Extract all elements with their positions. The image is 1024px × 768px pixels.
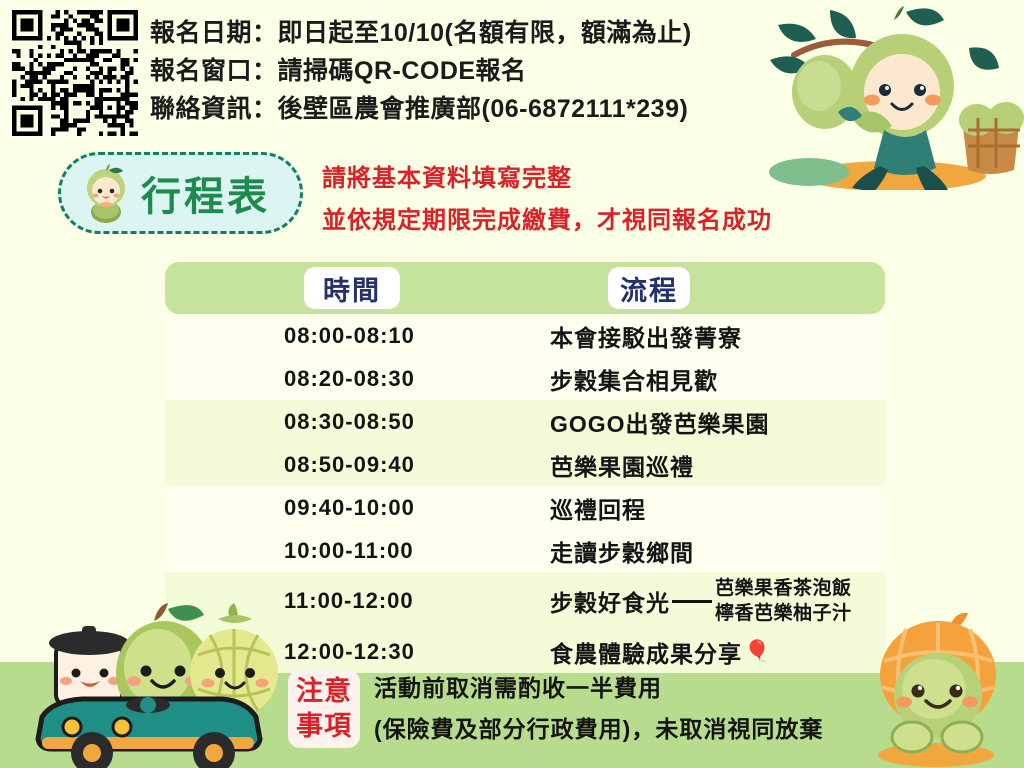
row-time: 08:50-09:40 [284, 452, 415, 478]
row-activity-label: 走讀步穀鄉間 [550, 534, 694, 568]
row-time: 08:20-08:30 [284, 366, 415, 392]
row-activity: 走讀步穀鄉間 [550, 534, 694, 568]
row-activity: 步穀集合相見歡 [550, 362, 718, 396]
row-activity: 芭樂果園巡禮 [550, 448, 694, 482]
notice-badge-line-2: 事項 [296, 709, 352, 744]
row-time: 08:30-08:50 [284, 409, 415, 435]
table-row: 08:20-08:30步穀集合相見歡 [165, 357, 885, 400]
table-row: 08:50-09:40芭樂果園巡禮 [165, 443, 885, 486]
row-activity: GOGO出發芭樂果園 [550, 405, 770, 439]
notice-line-2: (保險費及部分行政費用)，未取消視同放棄 [374, 709, 823, 750]
column-header-time: 時間 [304, 267, 400, 309]
balloon-icon: 🎈 [744, 640, 771, 664]
notice-block: 注意 事項 活動前取消需酌收一半費用 (保險費及部分行政費用)，未取消視同放棄 [288, 668, 823, 750]
notice-badge-line-1: 注意 [296, 674, 352, 709]
table-row: 08:00-08:10本會接駁出發菁寮 [165, 314, 885, 357]
row-activity: 步穀好食光芭樂果香茶泡飯檸香芭樂柚子汁 [550, 576, 852, 626]
table-row: 08:30-08:50GOGO出發芭樂果園 [165, 400, 885, 443]
row-time: 11:00-12:00 [284, 588, 414, 614]
guava-mascot-icon [77, 162, 135, 224]
row-time: 08:00-08:10 [284, 323, 415, 349]
row-activity: 巡禮回程 [550, 491, 646, 525]
row-activity-label: 芭樂果園巡禮 [550, 448, 694, 482]
qr-code-block[interactable] [12, 10, 138, 136]
row-sub-items: 芭樂果香茶泡飯檸香芭樂柚子汁 [715, 576, 852, 626]
schedule-badge: 行程表 [58, 152, 303, 234]
row-sub-item: 芭樂果香茶泡飯 [715, 576, 852, 601]
notice-line-1: 活動前取消需酌收一半費用 [374, 668, 823, 709]
row-activity-label: GOGO出發芭樂果園 [550, 405, 770, 439]
row-time: 10:00-11:00 [284, 538, 414, 564]
notice-text: 活動前取消需酌收一半費用 (保險費及部分行政費用)，未取消視同放棄 [374, 668, 823, 750]
registration-info: 報名日期：即日起至10/10(名額有限，額滿為止) 報名窗口：請掃碼QR-COD… [150, 14, 770, 128]
column-header-flow: 流程 [608, 267, 690, 309]
table-row: 10:00-11:00走讀步穀鄉間 [165, 529, 885, 572]
row-activity-label: 食農體驗成果分享 [550, 635, 742, 669]
mascots-in-car-illustration [18, 593, 283, 768]
row-activity-label: 步穀集合相見歡 [550, 362, 718, 396]
registration-date-line: 報名日期：即日起至10/10(名額有限，額滿為止) [150, 14, 770, 52]
row-sub-item: 檸香芭樂柚子汁 [715, 601, 852, 626]
row-time: 12:00-12:30 [284, 639, 415, 665]
poster-root: 報名日期：即日起至10/10(名額有限，額滿為止) 報名窗口：請掃碼QR-COD… [0, 0, 1024, 768]
contact-info-line: 聯絡資訊：後壁區農會推廣部(06-6872111*239) [150, 90, 770, 128]
guava-picking-mascot-illustration [734, 0, 1024, 190]
row-time: 09:40-10:00 [284, 495, 415, 521]
melon-hood-mascot-illustration [856, 603, 1016, 768]
row-activity: 食農體驗成果分享🎈 [550, 635, 771, 669]
row-activity: 本會接駁出發菁寮 [550, 319, 742, 353]
notice-badge: 注意 事項 [288, 670, 360, 748]
table-header-bar: 時間 流程 [165, 262, 885, 314]
row-activity-label: 步穀好食光 [550, 584, 670, 618]
connector-dash-icon [672, 600, 712, 603]
red-reminder-line-2: 並依規定期限完成繳費，才視同報名成功 [322, 200, 882, 242]
registration-window-line: 報名窗口：請掃碼QR-CODE報名 [150, 52, 770, 90]
table-row: 09:40-10:00巡禮回程 [165, 486, 885, 529]
row-activity-label: 本會接駁出發菁寮 [550, 319, 742, 353]
row-activity-label: 巡禮回程 [550, 491, 646, 525]
qr-code-icon[interactable] [12, 10, 138, 136]
schedule-badge-label: 行程表 [141, 164, 270, 222]
